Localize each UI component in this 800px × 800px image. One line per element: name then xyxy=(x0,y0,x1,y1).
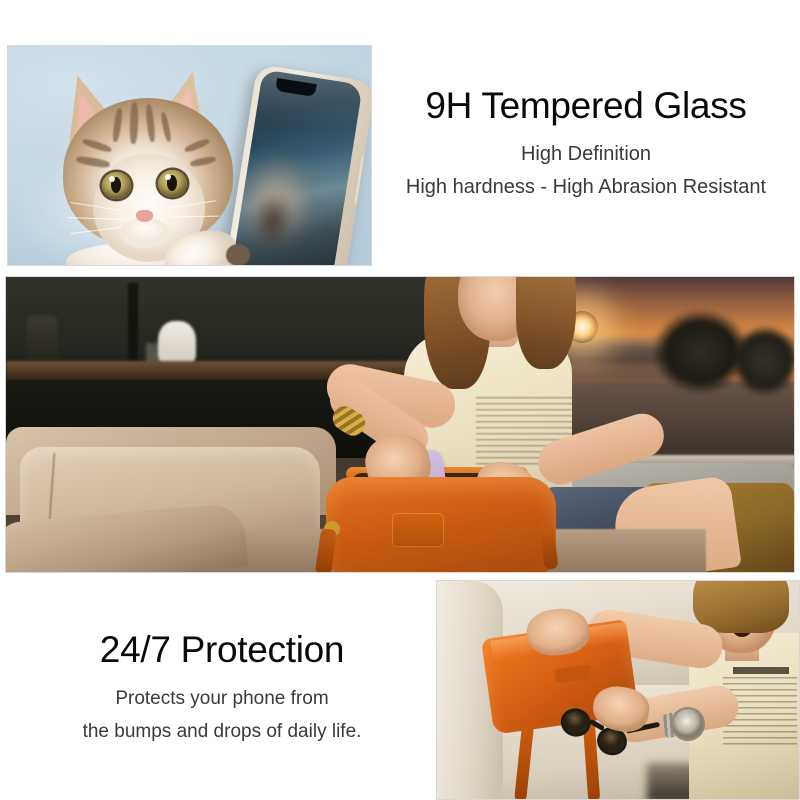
glass-headline: 9H Tempered Glass xyxy=(386,86,786,127)
photo-woman-shocked-bag-spilling xyxy=(436,580,800,800)
room-post xyxy=(128,283,138,369)
cat-eye-glint xyxy=(109,176,115,182)
protection-headline: 24/7 Protection xyxy=(22,630,422,671)
cat-paw-pad xyxy=(226,244,250,266)
cat-nose xyxy=(136,210,153,222)
glass-subtitle-line-2: High hardness - High Abrasion Resistant xyxy=(386,174,786,201)
shelf-jar xyxy=(26,315,58,367)
tank-top-print-title xyxy=(733,667,789,674)
photo-woman-placing-phone-in-handbag xyxy=(5,276,795,573)
wristwatch-icon xyxy=(673,709,703,739)
window-tree xyxy=(730,325,795,397)
protection-text-block: 24/7 Protection Protects your phone from… xyxy=(22,630,422,746)
cat-muzzle xyxy=(120,218,170,248)
photo-kitten-touching-phone xyxy=(7,45,372,266)
infographic-page: 9H Tempered Glass High Definition High h… xyxy=(0,0,800,800)
cat-eye-glint xyxy=(165,174,171,180)
glass-subtitle-line-1: High Definition xyxy=(386,141,786,168)
protection-subtitle-line-2: the bumps and drops of daily life. xyxy=(22,718,422,746)
handbag-pocket xyxy=(392,513,444,547)
glass-text-block: 9H Tempered Glass High Definition High h… xyxy=(386,86,786,201)
protection-subtitle-line-1: Protects your phone from xyxy=(22,685,422,713)
